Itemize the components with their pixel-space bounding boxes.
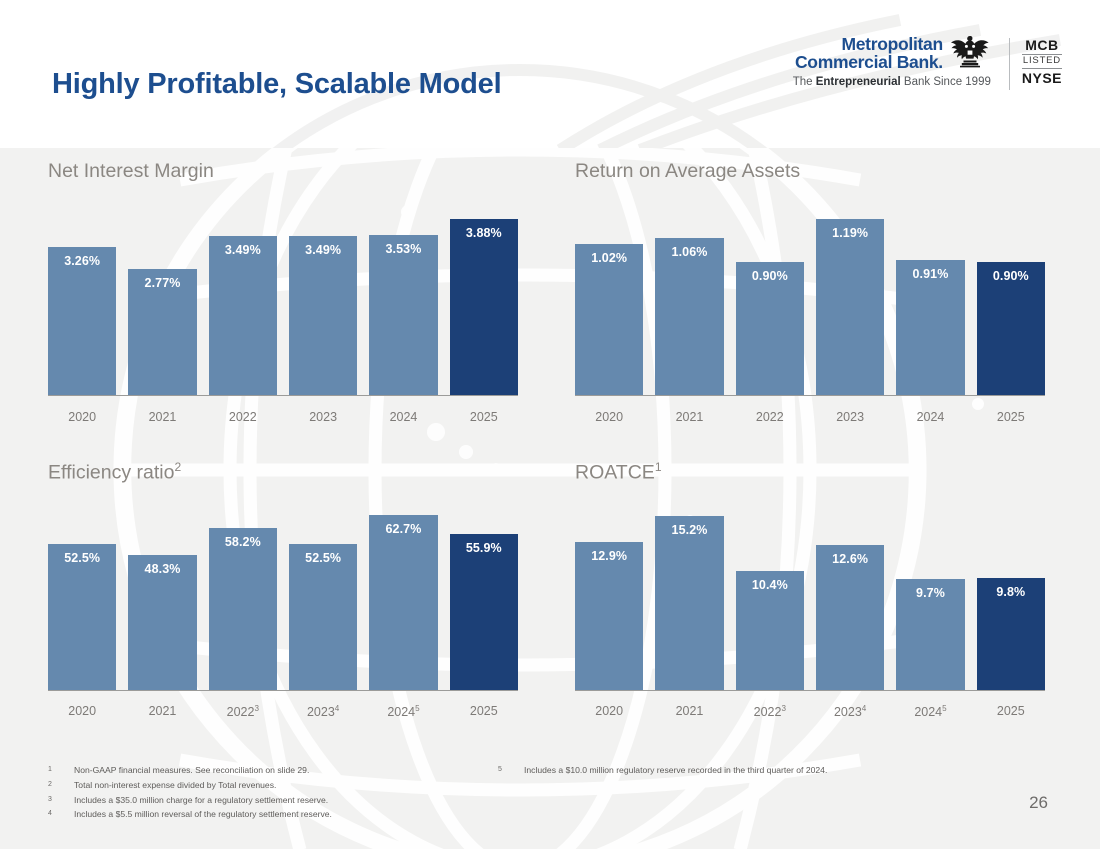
x-axis-tick-superscript: 5 [942,704,947,713]
bar-slot: 1.19% [816,195,884,395]
footnote-row: 1Non-GAAP financial measures. See reconc… [48,763,478,778]
bar-value-label: 62.7% [369,522,437,536]
bar[interactable]: 3.49% [209,236,277,395]
bar-slot: 62.7% [369,495,437,690]
bar-value-label: 48.3% [128,562,196,576]
bar-value-label: 3.26% [48,254,116,268]
bar[interactable]: 9.7% [896,579,964,690]
chart-title-superscript: 2 [174,460,181,474]
x-axis-tick: 2024 [896,410,964,424]
badge-listed-label: LISTED [1022,54,1062,68]
bar[interactable]: 12.6% [816,545,884,690]
x-axis-tick: 20223 [736,704,804,719]
x-axis-tick: 2023 [816,410,884,424]
bar-series: 52.5%48.3%58.2%52.5%62.7%55.9% [48,496,518,691]
x-axis-tick: 20245 [896,704,964,719]
chart-title: Net Interest Margin [48,160,214,183]
bar-value-label: 12.9% [575,549,643,563]
bar[interactable]: 3.26% [48,247,116,395]
bar-value-label: 3.49% [209,243,277,257]
footnote-marker: 4 [48,807,74,820]
logo-tagline: The Entrepreneurial Bank Since 1999 [793,76,991,88]
bar[interactable]: 3.49% [289,236,357,395]
footnote-row: 5Includes a $10.0 million regulatory res… [498,763,978,778]
footnote-text: Non-GAAP financial measures. See reconci… [74,763,478,778]
x-axis-tick: 2021 [128,410,196,424]
nyse-listing-badge: MCB LISTED NYSE [1022,36,1062,86]
chart-return-on-average-assets: Return on Average Assets1.02%1.06%0.90%1… [575,160,1045,430]
bar-slot: 3.53% [369,195,437,395]
x-axis-labels: 202020212022320234202452025 [575,704,1045,719]
plot-area: 1.02%1.06%0.90%1.19%0.91%0.90% [575,196,1045,396]
bar-slot: 3.26% [48,195,116,395]
bar-slot: 10.4% [736,495,804,690]
bar[interactable]: 3.53% [369,235,437,395]
bar-slot: 58.2% [209,495,277,690]
logo-divider [1009,38,1010,90]
bar-slot: 52.5% [48,495,116,690]
footnote-text: Includes a $10.0 million regulatory rese… [524,763,978,778]
bar-value-label: 0.90% [977,269,1045,283]
bar-value-label: 3.49% [289,243,357,257]
bar-value-label: 2.77% [128,276,196,290]
plot-area: 52.5%48.3%58.2%52.5%62.7%55.9% [48,496,518,691]
logo-tagline-prefix: The [793,76,816,88]
footnote-text: Includes a $35.0 million charge for a re… [74,793,478,808]
bar-highlighted[interactable]: 0.90% [977,262,1045,395]
slide-header: Highly Profitable, Scalable Model Metrop… [0,0,1100,148]
bar-value-label: 9.8% [977,585,1045,599]
bar[interactable]: 58.2% [209,528,277,690]
bar-slot: 1.06% [655,195,723,395]
x-axis-tick: 2021 [128,704,196,719]
x-axis-tick: 20234 [816,704,884,719]
bar-slot: 12.9% [575,495,643,690]
bar-series: 3.26%2.77%3.49%3.49%3.53%3.88% [48,196,518,396]
x-axis-labels: 202020212022202320242025 [575,410,1045,424]
logo-line-2: Commercial Bank. [795,54,943,72]
bar[interactable]: 52.5% [289,544,357,690]
bar-value-label: 15.2% [655,523,723,537]
bar-value-label: 1.02% [575,251,643,265]
x-axis-tick-superscript: 3 [781,704,786,713]
bar-slot: 3.88% [450,195,518,395]
bar-value-label: 3.88% [450,226,518,240]
company-logo: Metropolitan Commercial Bank. [793,36,1062,90]
bar-slot: 1.02% [575,195,643,395]
x-axis-tick: 2021 [655,410,723,424]
x-axis-tick-superscript: 3 [254,704,259,713]
plot-area: 3.26%2.77%3.49%3.49%3.53%3.88% [48,196,518,396]
bar-slot: 3.49% [209,195,277,395]
x-axis-tick: 2022 [736,410,804,424]
footnotes-left-column: 1Non-GAAP financial measures. See reconc… [48,763,478,822]
x-axis-tick: 2020 [48,410,116,424]
footnotes-right-column: 5Includes a $10.0 million regulatory res… [498,763,978,778]
bar-slot: 0.90% [736,195,804,395]
bar[interactable]: 48.3% [128,555,196,690]
bar[interactable]: 10.4% [736,571,804,690]
bar[interactable]: 1.19% [816,219,884,395]
chart-efficiency-ratio: Efficiency ratio252.5%48.3%58.2%52.5%62.… [48,460,518,725]
bar-slot: 0.90% [977,195,1045,395]
x-axis-tick: 2021 [655,704,723,719]
bar-value-label: 3.53% [369,242,437,256]
bar-highlighted[interactable]: 9.8% [977,578,1045,690]
x-axis-tick: 20245 [369,704,437,719]
x-axis-tick: 2025 [450,704,518,719]
footnote-marker: 1 [48,763,74,776]
x-axis-tick: 20234 [289,704,357,719]
footnote-marker: 3 [48,793,74,806]
bar-series: 12.9%15.2%10.4%12.6%9.7%9.8% [575,496,1045,691]
chart-title-superscript: 1 [655,460,662,474]
bar-value-label: 1.06% [655,245,723,259]
bar[interactable]: 2.77% [128,269,196,395]
x-axis-tick: 2020 [575,410,643,424]
chart-title: Efficiency ratio2 [48,460,181,485]
chart-roatce: ROATCE112.9%15.2%10.4%12.6%9.7%9.8%20202… [575,460,1045,725]
badge-exchange: NYSE [1022,70,1062,86]
footnote-row: 2Total non-interest expense divided by T… [48,778,478,793]
bar[interactable]: 62.7% [369,515,437,690]
bar-slot: 52.5% [289,495,357,690]
x-axis-tick-superscript: 5 [415,704,420,713]
bar-value-label: 52.5% [289,551,357,565]
footnote-row: 4Includes a $5.5 million reversal of the… [48,807,478,822]
bar-value-label: 0.91% [896,267,964,281]
x-axis-tick: 2020 [575,704,643,719]
bar-value-label: 10.4% [736,578,804,592]
bar-value-label: 55.9% [450,541,518,555]
plot-area: 12.9%15.2%10.4%12.6%9.7%9.8% [575,496,1045,691]
logo-tagline-bold: Entrepreneurial [816,76,901,88]
chart-title: Return on Average Assets [575,160,800,183]
x-axis-tick-superscript: 4 [335,704,340,713]
bar[interactable]: 0.91% [896,260,964,395]
page-number: 26 [1029,793,1048,813]
x-axis-tick: 20223 [209,704,277,719]
eagle-emblem-icon [949,33,991,71]
bar[interactable]: 12.9% [575,542,643,690]
bar-value-label: 1.19% [816,226,884,240]
bar-value-label: 52.5% [48,551,116,565]
x-axis-tick: 2025 [450,410,518,424]
x-axis-tick: 2025 [977,410,1045,424]
bar-value-label: 0.90% [736,269,804,283]
logo-tagline-suffix: Bank Since 1999 [901,76,991,88]
bar[interactable]: 0.90% [736,262,804,395]
footnote-marker: 2 [48,778,74,791]
chart-net-interest-margin: Net Interest Margin3.26%2.77%3.49%3.49%3… [48,160,518,430]
footnote-row: 3Includes a $35.0 million charge for a r… [48,793,478,808]
bar-slot: 12.6% [816,495,884,690]
bar-value-label: 12.6% [816,552,884,566]
x-axis-tick-superscript: 4 [862,704,867,713]
bar[interactable]: 1.06% [655,238,723,395]
bar-slot: 9.8% [977,495,1045,690]
bar-slot: 9.7% [896,495,964,690]
bar-slot: 2.77% [128,195,196,395]
slide: Highly Profitable, Scalable Model Metrop… [0,0,1100,849]
bar-slot: 15.2% [655,495,723,690]
bar-slot: 3.49% [289,195,357,395]
bar-slot: 0.91% [896,195,964,395]
x-axis-labels: 202020212022202320242025 [48,410,518,424]
x-axis-tick: 2025 [977,704,1045,719]
bar[interactable]: 1.02% [575,244,643,395]
bar-value-label: 9.7% [896,586,964,600]
footnote-text: Includes a $5.5 million reversal of the … [74,807,478,822]
bar[interactable]: 15.2% [655,516,723,690]
footnote-text: Total non-interest expense divided by To… [74,778,478,793]
bar-series: 1.02%1.06%0.90%1.19%0.91%0.90% [575,196,1045,396]
bar[interactable]: 52.5% [48,544,116,690]
bar-highlighted[interactable]: 3.88% [450,219,518,395]
x-axis-tick: 2020 [48,704,116,719]
footnote-marker: 5 [498,763,524,776]
logo-wordmark: Metropolitan Commercial Bank. [793,36,999,88]
chart-title: ROATCE1 [575,460,662,485]
bar-slot: 55.9% [450,495,518,690]
badge-ticker: MCB [1022,38,1062,53]
bar-value-label: 58.2% [209,535,277,549]
x-axis-labels: 202020212022320234202452025 [48,704,518,719]
page-title: Highly Profitable, Scalable Model [52,68,501,101]
x-axis-tick: 2023 [289,410,357,424]
bar-highlighted[interactable]: 55.9% [450,534,518,690]
bar-slot: 48.3% [128,495,196,690]
x-axis-tick: 2022 [209,410,277,424]
x-axis-tick: 2024 [369,410,437,424]
